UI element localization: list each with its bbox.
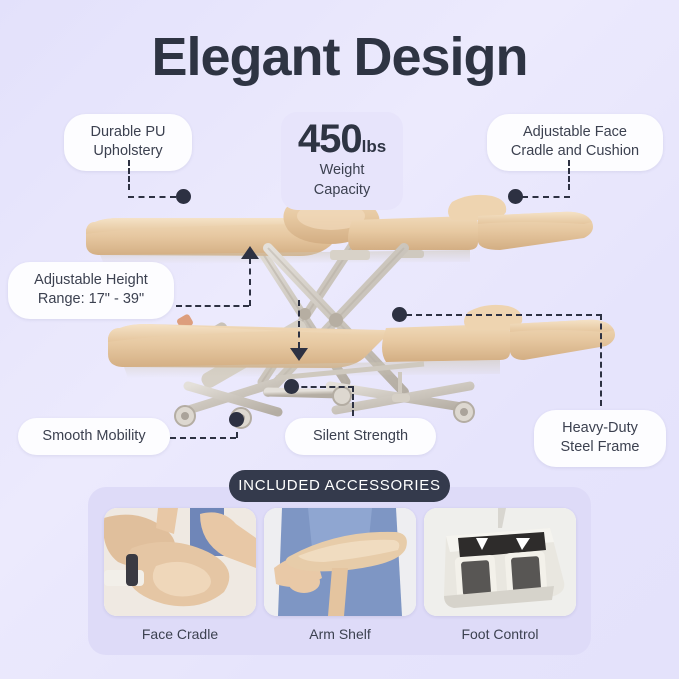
face-cradle-card[interactable] [104, 508, 256, 616]
connector-silent-horizontal [292, 386, 354, 388]
callout-line-1: Adjustable Height [34, 272, 148, 288]
connector-face-vertical [568, 160, 570, 190]
connector-steel-horizontal [406, 314, 602, 316]
accessory-caption: Arm Shelf [264, 626, 416, 642]
connector-face-horizontal [522, 196, 570, 198]
weight-number: 450 [298, 117, 362, 161]
callout-heavy-duty-steel-frame: Heavy-Duty Steel Frame [534, 410, 666, 467]
weight-label-line-2: Capacity [287, 182, 397, 199]
height-arrow-up-icon [241, 246, 259, 259]
callout-smooth-mobility: Smooth Mobility [18, 418, 170, 455]
foot-control-photo [424, 508, 576, 616]
callout-line-1: Smooth Mobility [42, 428, 145, 444]
connector-height-horizontal [176, 305, 249, 307]
accessories-banner: INCLUDED ACCESSORIES [229, 470, 450, 502]
callout-line-2: Upholstery [93, 143, 162, 159]
connector-durable-horizontal [128, 196, 176, 198]
callout-adjustable-face-cradle: Adjustable Face Cradle and Cushion [487, 114, 663, 171]
accessory-caption: Face Cradle [104, 626, 256, 642]
accessory-item-face-cradle[interactable]: Face Cradle [104, 508, 256, 642]
callout-line-2: Cradle and Cushion [511, 143, 639, 159]
page-title: Elegant Design [0, 26, 679, 88]
connector-height-vertical-up [249, 258, 251, 306]
callout-line-1: Adjustable Face [523, 124, 627, 140]
callout-line-1: Silent Strength [313, 428, 408, 444]
arm-shelf-photo [264, 508, 416, 616]
accessory-item-foot-control[interactable]: Foot Control [424, 508, 576, 642]
connector-silent-vertical [352, 386, 354, 416]
arm-shelf-card[interactable] [264, 508, 416, 616]
connector-height-vertical-down [298, 300, 300, 348]
accessory-item-arm-shelf[interactable]: Arm Shelf [264, 508, 416, 642]
callout-line-1: Durable PU [91, 124, 166, 140]
lower-table [108, 248, 615, 428]
callout-line-1: Heavy-Duty [562, 420, 638, 436]
callout-line-2: Range: 17" - 39" [38, 291, 144, 307]
infographic-stage: Elegant Design [0, 0, 679, 679]
connector-durable-vertical [128, 160, 130, 190]
accessory-caption: Foot Control [424, 626, 576, 642]
weight-capacity-badge: 450lbs Weight Capacity [281, 112, 403, 210]
callout-silent-strength: Silent Strength [285, 418, 436, 455]
face-cradle-photo [104, 508, 256, 616]
weight-value-row: 450lbs [287, 119, 397, 159]
marker-dot-mobility [229, 412, 244, 427]
connector-mobility-horizontal [170, 437, 236, 439]
weight-unit: lbs [362, 137, 387, 156]
marker-dot-durable [176, 189, 191, 204]
foot-control-card[interactable] [424, 508, 576, 616]
callout-line-2: Steel Frame [561, 439, 640, 455]
callout-adjustable-height: Adjustable Height Range: 17" - 39" [8, 262, 174, 319]
marker-dot-face-cradle [508, 189, 523, 204]
weight-label-line-1: Weight [287, 162, 397, 179]
height-arrow-down-icon [290, 348, 308, 361]
marker-dot-steel-frame [392, 307, 407, 322]
connector-steel-vertical [600, 314, 602, 406]
marker-dot-silent-strength [284, 379, 299, 394]
